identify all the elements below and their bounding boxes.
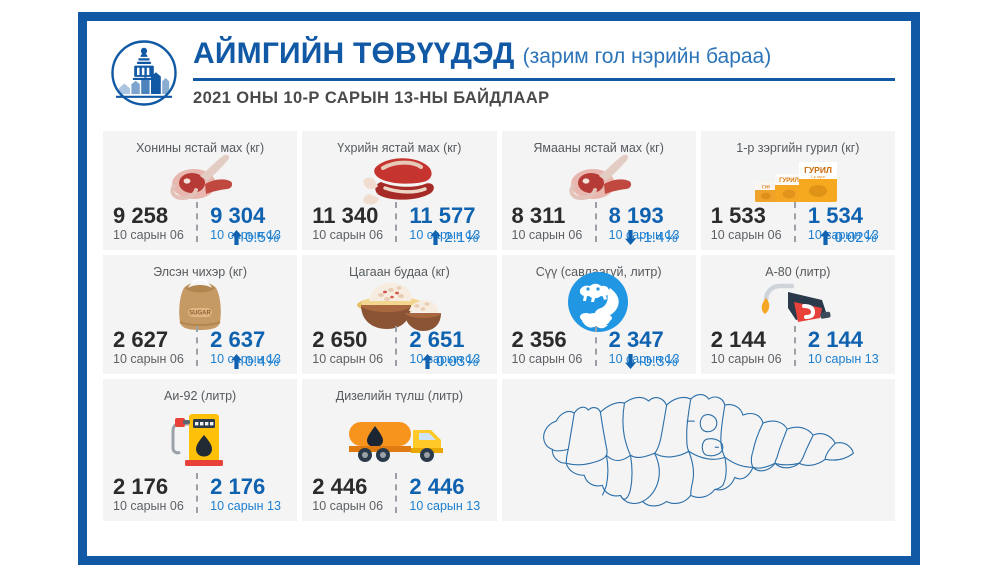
arrow-up-icon — [231, 230, 242, 245]
new-value-group: -0.3% 2 347 10 сарын 13 — [597, 328, 686, 368]
old-date: 10 сарын 06 — [711, 228, 788, 244]
card-values: 2 650 10 сарын 06 0.03% 2 651 10 сарын 1… — [312, 326, 486, 368]
arrow-down-icon — [625, 230, 636, 245]
new-value-group: 2 176 10 сарын 13 — [198, 475, 287, 515]
change-indicator: 0.5% — [231, 229, 279, 246]
rice-bowl-icon — [312, 280, 486, 326]
value-divider — [395, 202, 397, 242]
sugar-sack-icon: SUGAR — [113, 280, 287, 326]
tanker-truck-icon — [312, 404, 486, 474]
arrow-up-icon — [231, 354, 242, 369]
old-date: 10 сарын 06 — [512, 228, 589, 244]
new-value: 1 534 — [808, 204, 885, 227]
new-value-group: 2 144 10 сарын 13 — [796, 328, 885, 368]
new-date: 10 сарын 13 — [409, 499, 486, 515]
old-value: 2 627 — [113, 328, 190, 351]
new-value-group: 0.03% 2 651 10 сарын 13 — [397, 328, 486, 368]
old-value: 2 144 — [711, 328, 788, 351]
old-value: 1 533 — [711, 204, 788, 227]
old-date: 10 сарын 06 — [113, 352, 190, 368]
new-date: 10 сарын 13 — [808, 352, 885, 368]
new-value-group: 2 446 10 сарын 13 — [397, 475, 486, 515]
old-value-group: 2 446 10 сарын 06 — [312, 475, 397, 515]
infographic-poster: АЙМГИЙН ТӨВҮҮДЭД(зарим гол нэрийн бараа)… — [0, 0, 1000, 584]
old-date: 10 сарын 06 — [113, 499, 190, 515]
change-indicator: -1.4% — [625, 229, 678, 246]
value-divider — [196, 473, 198, 513]
card-title: Аи-92 (литр) — [113, 389, 287, 404]
card-values: 1 533 10 сарын 06 0.02% 1 534 10 сарын 1… — [711, 202, 885, 244]
new-date: 10 сарын 13 — [210, 499, 287, 515]
fuel-pump-icon — [113, 404, 287, 474]
card-values: 2 356 10 сарын 06 -0.3% 2 347 10 сарын 1… — [512, 326, 686, 368]
flour-bag-icon: ГУР ГУРИЛ — [711, 156, 885, 202]
new-value: 2 144 — [808, 328, 885, 351]
change-indicator: 2.1% — [430, 229, 478, 246]
new-value: 8 193 — [609, 204, 686, 227]
old-value-group: 2 356 10 сарын 06 — [512, 328, 597, 368]
old-value: 11 340 — [312, 204, 389, 227]
new-value: 2 651 — [409, 328, 486, 351]
old-value-group: 2 650 10 сарын 06 — [312, 328, 397, 368]
fuel-nozzle-icon — [711, 280, 885, 326]
old-value-group: 1 533 10 сарын 06 — [711, 204, 796, 244]
svg-text:1-р зэрэг: 1-р зэрэг — [810, 175, 826, 179]
poster-inner: АЙМГИЙН ТӨВҮҮДЭД(зарим гол нэрийн бараа)… — [87, 21, 911, 556]
card-values: 2 446 10 сарын 06 2 446 10 сарын 13 — [312, 473, 486, 515]
card-values: 8 311 10 сарын 06 -1.4% 8 193 10 сарын 1… — [512, 202, 686, 244]
old-value: 2 446 — [312, 475, 389, 498]
change-value: -0.3% — [639, 353, 678, 370]
new-value-group: -1.4% 8 193 10 сарын 13 — [597, 204, 686, 244]
arrow-up-icon — [422, 354, 433, 369]
mongolia-aimag-map — [502, 379, 896, 522]
svg-text:ГУРИЛ: ГУРИЛ — [779, 178, 799, 184]
change-value: 0.4% — [245, 353, 279, 370]
old-value-group: 2 144 10 сарын 06 — [711, 328, 796, 368]
change-value: 2.1% — [444, 229, 478, 246]
card-values: 2 144 10 сарын 06 2 144 10 сарын 13 — [711, 326, 885, 368]
value-divider — [196, 326, 198, 366]
arrow-up-icon — [820, 230, 831, 245]
value-divider — [395, 473, 397, 513]
milk-cow-icon — [512, 280, 686, 326]
new-value: 2 176 — [210, 475, 287, 498]
card-values: 9 258 10 сарын 06 0.5% 9 304 10 сарын 13 — [113, 202, 287, 244]
arrow-up-icon — [430, 230, 441, 245]
change-indicator: 0.4% — [231, 353, 279, 370]
old-date: 10 сарын 06 — [312, 352, 389, 368]
old-value: 2 650 — [312, 328, 389, 351]
goat-meat-icon — [512, 156, 686, 202]
card-values: 11 340 10 сарын 06 2.1% 11 577 10 сарын … — [312, 202, 486, 244]
old-value: 2 176 — [113, 475, 190, 498]
change-value: -1.4% — [639, 229, 678, 246]
old-date: 10 сарын 06 — [711, 352, 788, 368]
title-line: АЙМГИЙН ТӨВҮҮДЭД(зарим гол нэрийн бараа) — [193, 39, 895, 69]
page-subtitle: 2021 ОНЫ 10-Р САРЫН 13-НЫ БАЙДЛААР — [193, 89, 895, 108]
header-divider — [193, 78, 895, 81]
arrow-down-icon — [625, 354, 636, 369]
old-value-group: 9 258 10 сарын 06 — [113, 204, 198, 244]
header-text: АЙМГИЙН ТӨВҮҮДЭД(зарим гол нэрийн бараа)… — [193, 35, 895, 108]
old-value-group: 8 311 10 сарын 06 — [512, 204, 597, 244]
value-divider — [794, 202, 796, 242]
new-value-group: 2.1% 11 577 10 сарын 13 — [397, 204, 486, 244]
value-divider — [595, 202, 597, 242]
new-value-group: 0.4% 2 637 10 сарын 13 — [198, 328, 287, 368]
new-value: 9 304 — [210, 204, 287, 227]
page-title-suffix: (зарим гол нэрийн бараа) — [523, 45, 772, 68]
mongolia-statistics-emblem — [109, 38, 179, 108]
page-title: АЙМГИЙН ТӨВҮҮДЭД — [193, 37, 515, 70]
price-card-milk: Сүү (савлаагүй, литр) — [502, 255, 696, 374]
old-value-group: 2 627 10 сарын 06 — [113, 328, 198, 368]
new-value: 2 446 — [409, 475, 486, 498]
old-date: 10 сарын 06 — [512, 352, 589, 368]
header: АЙМГИЙН ТӨВҮҮДЭД(зарим гол нэрийн бараа)… — [103, 35, 895, 127]
price-card-a80: А-80 (литр) — [701, 255, 895, 374]
old-value: 8 311 — [512, 204, 589, 227]
price-card-beef: Үхрийн ястай мах (кг) — [302, 131, 496, 250]
price-card-goat: Ямааны ястай мах (кг) — [502, 131, 696, 250]
poster-frame: АЙМГИЙН ТӨВҮҮДЭД(зарим гол нэрийн бараа)… — [78, 12, 920, 565]
new-value-group: 0.5% 9 304 10 сарын 13 — [198, 204, 287, 244]
new-value: 2 637 — [210, 328, 287, 351]
price-card-flour: 1-р зэргийн гурил (кг) ГУР — [701, 131, 895, 250]
change-value: 0.5% — [245, 229, 279, 246]
card-title: Дизелийн түлш (литр) — [312, 389, 486, 404]
change-value: 0.02% — [834, 229, 877, 246]
change-indicator: 0.03% — [422, 353, 479, 370]
beef-meat-icon — [312, 156, 486, 202]
svg-text:ГУР: ГУР — [762, 185, 770, 190]
svg-text:SUGAR: SUGAR — [189, 310, 211, 316]
old-date: 10 сарын 06 — [312, 499, 389, 515]
old-value: 2 356 — [512, 328, 589, 351]
lamb-meat-icon — [113, 156, 287, 202]
change-indicator: 0.02% — [820, 229, 877, 246]
change-value: 0.03% — [436, 353, 479, 370]
value-divider — [395, 326, 397, 366]
new-value-group: 0.02% 1 534 10 сарын 13 — [796, 204, 885, 244]
new-value: 2 347 — [609, 328, 686, 351]
price-card-grid: Хонины ястай мах (кг) — [103, 131, 895, 521]
old-date: 10 сарын 06 — [312, 228, 389, 244]
price-card-lamb: Хонины ястай мах (кг) — [103, 131, 297, 250]
svg-text:ГУРИЛ: ГУРИЛ — [804, 165, 832, 175]
old-value-group: 11 340 10 сарын 06 — [312, 204, 397, 244]
card-values: 2 627 10 сарын 06 0.4% 2 637 10 сарын 13 — [113, 326, 287, 368]
old-value: 9 258 — [113, 204, 190, 227]
value-divider — [794, 326, 796, 366]
value-divider — [595, 326, 597, 366]
old-date: 10 сарын 06 — [113, 228, 190, 244]
value-divider — [196, 202, 198, 242]
new-value: 11 577 — [409, 204, 486, 227]
price-card-diesel: Дизелийн түлш (литр) — [302, 379, 496, 522]
card-values: 2 176 10 сарын 06 2 176 10 сарын 13 — [113, 473, 287, 515]
price-card-ai92: Аи-92 (литр) — [103, 379, 297, 522]
old-value-group: 2 176 10 сарын 06 — [113, 475, 198, 515]
price-card-rice: Цагаан будаа (кг) — [302, 255, 496, 374]
change-indicator: -0.3% — [625, 353, 678, 370]
price-card-sugar: Элсэн чихэр (кг) SUGAR — [103, 255, 297, 374]
